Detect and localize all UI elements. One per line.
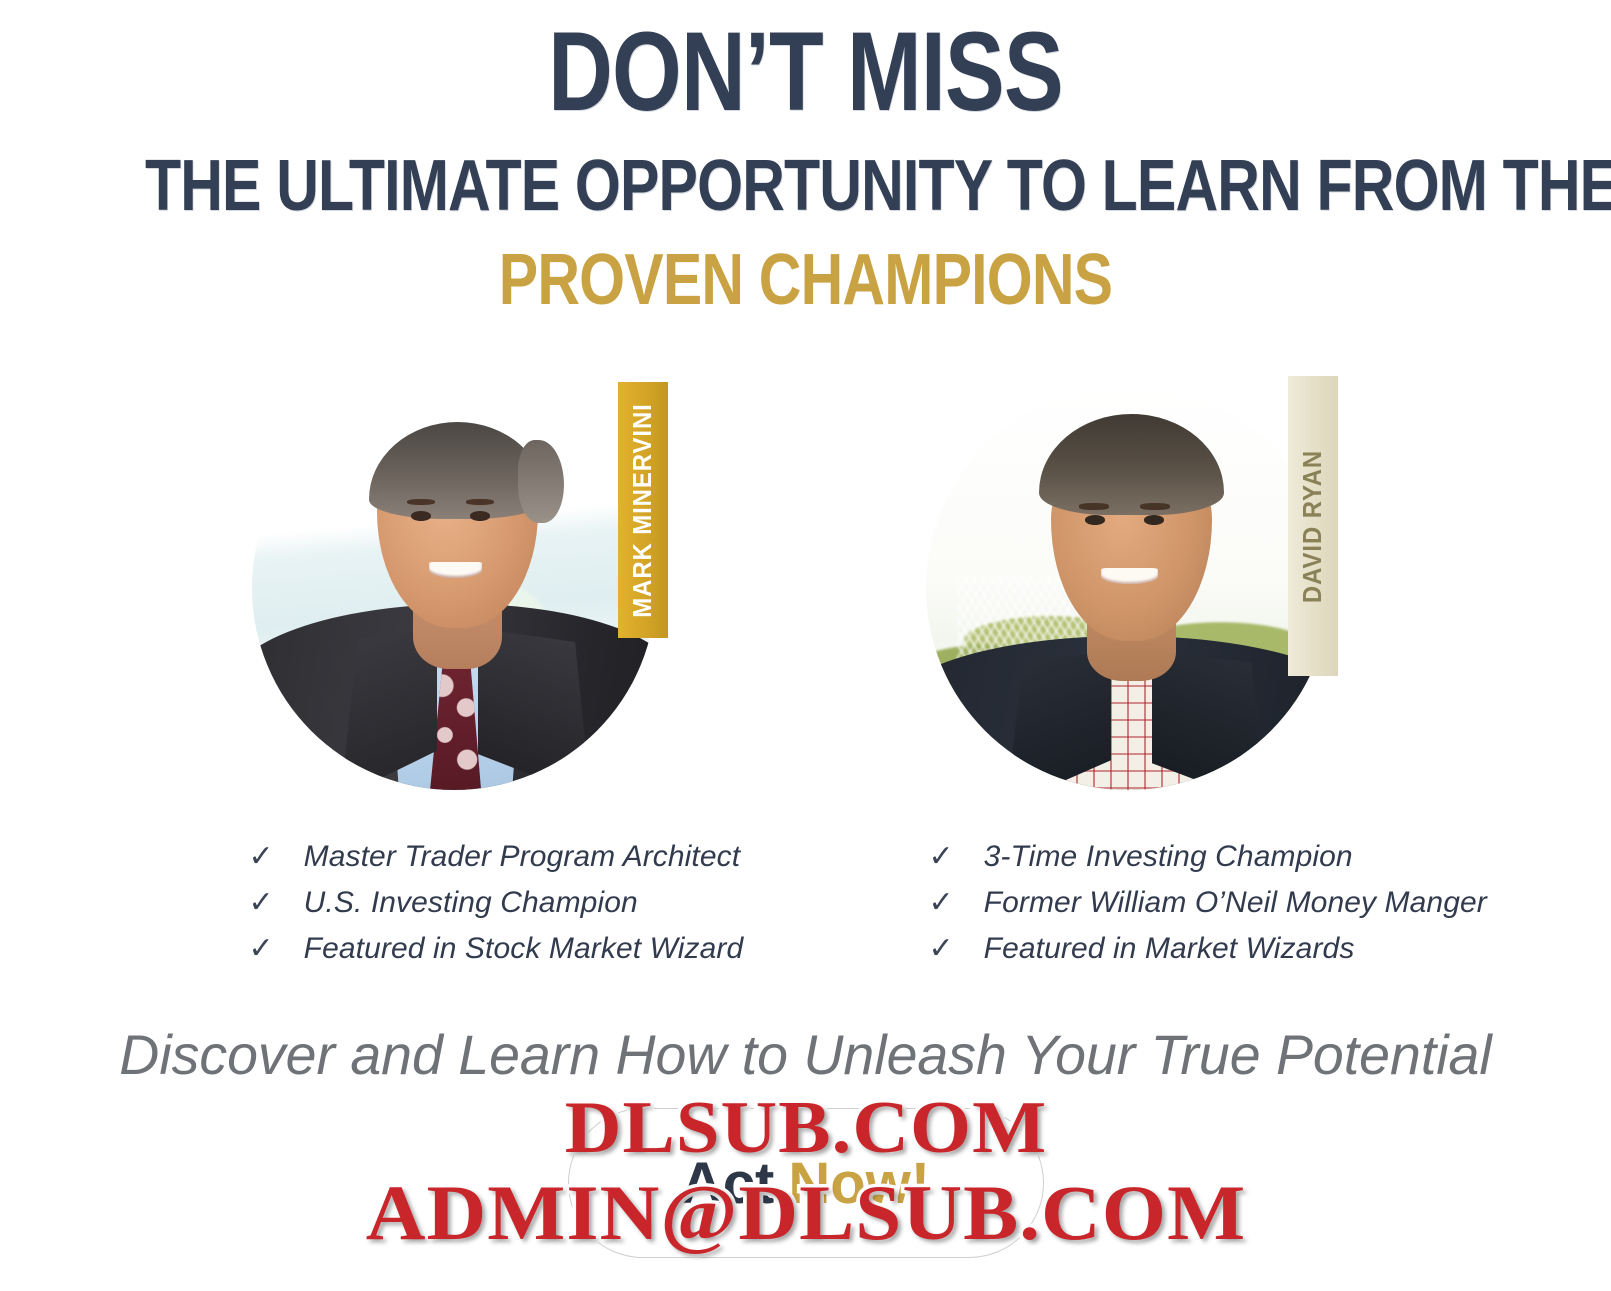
- portrait-eye-left-david: [1085, 515, 1105, 525]
- credential-label: Featured in Market Wizards: [984, 932, 1355, 966]
- portrait-eyebrow-right-david: [1140, 503, 1170, 509]
- check-icon: ✓: [249, 888, 274, 918]
- list-item: ✓ U.S. Investing Champion: [231, 886, 701, 920]
- portrait-smile-david: [1101, 568, 1158, 584]
- list-item: ✓ Former William O’Neil Money Manger: [911, 886, 1381, 920]
- credential-label: Featured in Stock Market Wizard: [304, 932, 744, 966]
- speaker-card-mark-minervini: MARK MINERVINI: [234, 368, 704, 814]
- check-icon: ✓: [929, 842, 954, 872]
- credentials-list-mark: ✓ Master Trader Program Architect ✓ U.S.…: [231, 840, 701, 978]
- credential-label: Master Trader Program Architect: [304, 840, 741, 874]
- list-item: ✓ 3-Time Investing Champion: [911, 840, 1381, 874]
- speaker-photo-wrap-david: DAVID RYAN: [926, 368, 1330, 814]
- credential-label: Former William O’Neil Money Manger: [984, 886, 1487, 920]
- portrait-eye-right-mark: [470, 511, 490, 521]
- headline-line-2: THE ULTIMATE OPPORTUNITY TO LEARN FROM T…: [145, 150, 1466, 222]
- portrait-lapel-right-david: [1152, 653, 1265, 790]
- portrait-eye-left-mark: [411, 511, 431, 521]
- check-icon: ✓: [249, 934, 274, 964]
- tagline: Discover and Learn How to Unleash Your T…: [8, 1022, 1603, 1087]
- list-item: ✓ Featured in Stock Market Wizard: [231, 932, 701, 966]
- list-item: ✓ Master Trader Program Architect: [231, 840, 701, 874]
- portrait-eye-right-david: [1144, 515, 1164, 525]
- check-icon: ✓: [249, 842, 274, 872]
- speaker-portrait-david: [926, 386, 1330, 790]
- credential-label: 3-Time Investing Champion: [984, 840, 1353, 874]
- list-item: ✓ Featured in Market Wizards: [911, 932, 1381, 966]
- speaker-name-label-mark: MARK MINERVINI: [627, 403, 658, 617]
- credentials-list-david: ✓ 3-Time Investing Champion ✓ Former Wil…: [911, 840, 1381, 978]
- headline-line-3-accent: PROVEN CHAMPIONS: [145, 244, 1466, 316]
- speaker-name-banner-mark: MARK MINERVINI: [618, 382, 668, 638]
- speaker-photo-wrap-mark: MARK MINERVINI: [252, 368, 656, 814]
- speaker-card-david-ryan: DAVID RYAN: [908, 368, 1378, 814]
- headline-block: DON’T MISS THE ULTIMATE OPPORTUNITY TO L…: [0, 0, 1611, 316]
- check-icon: ✓: [929, 888, 954, 918]
- speaker-name-label-david: DAVID RYAN: [1297, 449, 1328, 602]
- watermark-site: DLSUB.COM: [564, 1086, 1046, 1171]
- portrait-illustration-david: [926, 386, 1330, 790]
- portrait-smile-mark: [429, 562, 482, 578]
- credential-label: U.S. Investing Champion: [304, 886, 638, 920]
- speaker-portrait-mark: [252, 386, 656, 790]
- portrait-illustration-mark: [252, 386, 656, 790]
- watermark-email: ADMIN@DLSUB.COM: [365, 1168, 1246, 1258]
- speaker-name-banner-david: DAVID RYAN: [1288, 376, 1338, 676]
- check-icon: ✓: [929, 934, 954, 964]
- portrait-eyebrow-left-mark: [407, 499, 435, 505]
- portrait-eyebrow-left-david: [1079, 503, 1109, 509]
- portrait-eyebrow-right-mark: [466, 499, 494, 505]
- headline-line-1: DON’T MISS: [161, 16, 1450, 128]
- speakers-row: MARK MINERVINI: [0, 368, 1611, 814]
- credentials-row: ✓ Master Trader Program Architect ✓ U.S.…: [0, 840, 1611, 978]
